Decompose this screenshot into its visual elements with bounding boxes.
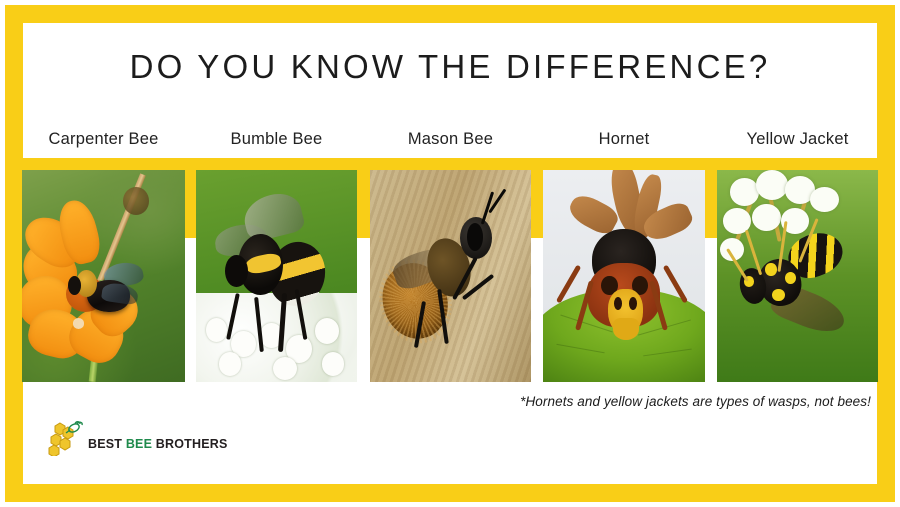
photo-yellow-jacket xyxy=(717,170,878,382)
brand-wordmark: BEST BEE BROTHERS xyxy=(88,437,228,451)
column-label-yellow-jacket: Yellow Jacket xyxy=(717,130,878,149)
photo-row xyxy=(0,170,900,382)
brand-logo[interactable]: BEST BEE BROTHERS xyxy=(48,418,248,458)
brand-first: BEST xyxy=(88,437,126,451)
brand-accent: BEE xyxy=(126,437,156,451)
photo-hornet xyxy=(543,170,705,382)
column-label-carpenter-bee: Carpenter Bee xyxy=(22,130,185,149)
column-label-mason-bee: Mason Bee xyxy=(370,130,531,149)
column-label-bumble-bee: Bumble Bee xyxy=(196,130,357,149)
footnote-text: *Hornets and yellow jackets are types of… xyxy=(520,394,871,409)
honeycomb-bee-icon xyxy=(48,420,88,456)
brand-last: BROTHERS xyxy=(156,437,228,451)
column-label-hornet: Hornet xyxy=(543,130,705,149)
infographic-poster: DO YOU KNOW THE DIFFERENCE? Carpenter Be… xyxy=(0,0,900,507)
photo-bumble-bee xyxy=(196,170,357,382)
column-label-row: Carpenter Bee Bumble Bee Mason Bee Horne… xyxy=(22,130,878,156)
photo-mason-bee xyxy=(370,170,531,382)
page-title: DO YOU KNOW THE DIFFERENCE? xyxy=(0,48,900,86)
photo-carpenter-bee xyxy=(22,170,185,382)
